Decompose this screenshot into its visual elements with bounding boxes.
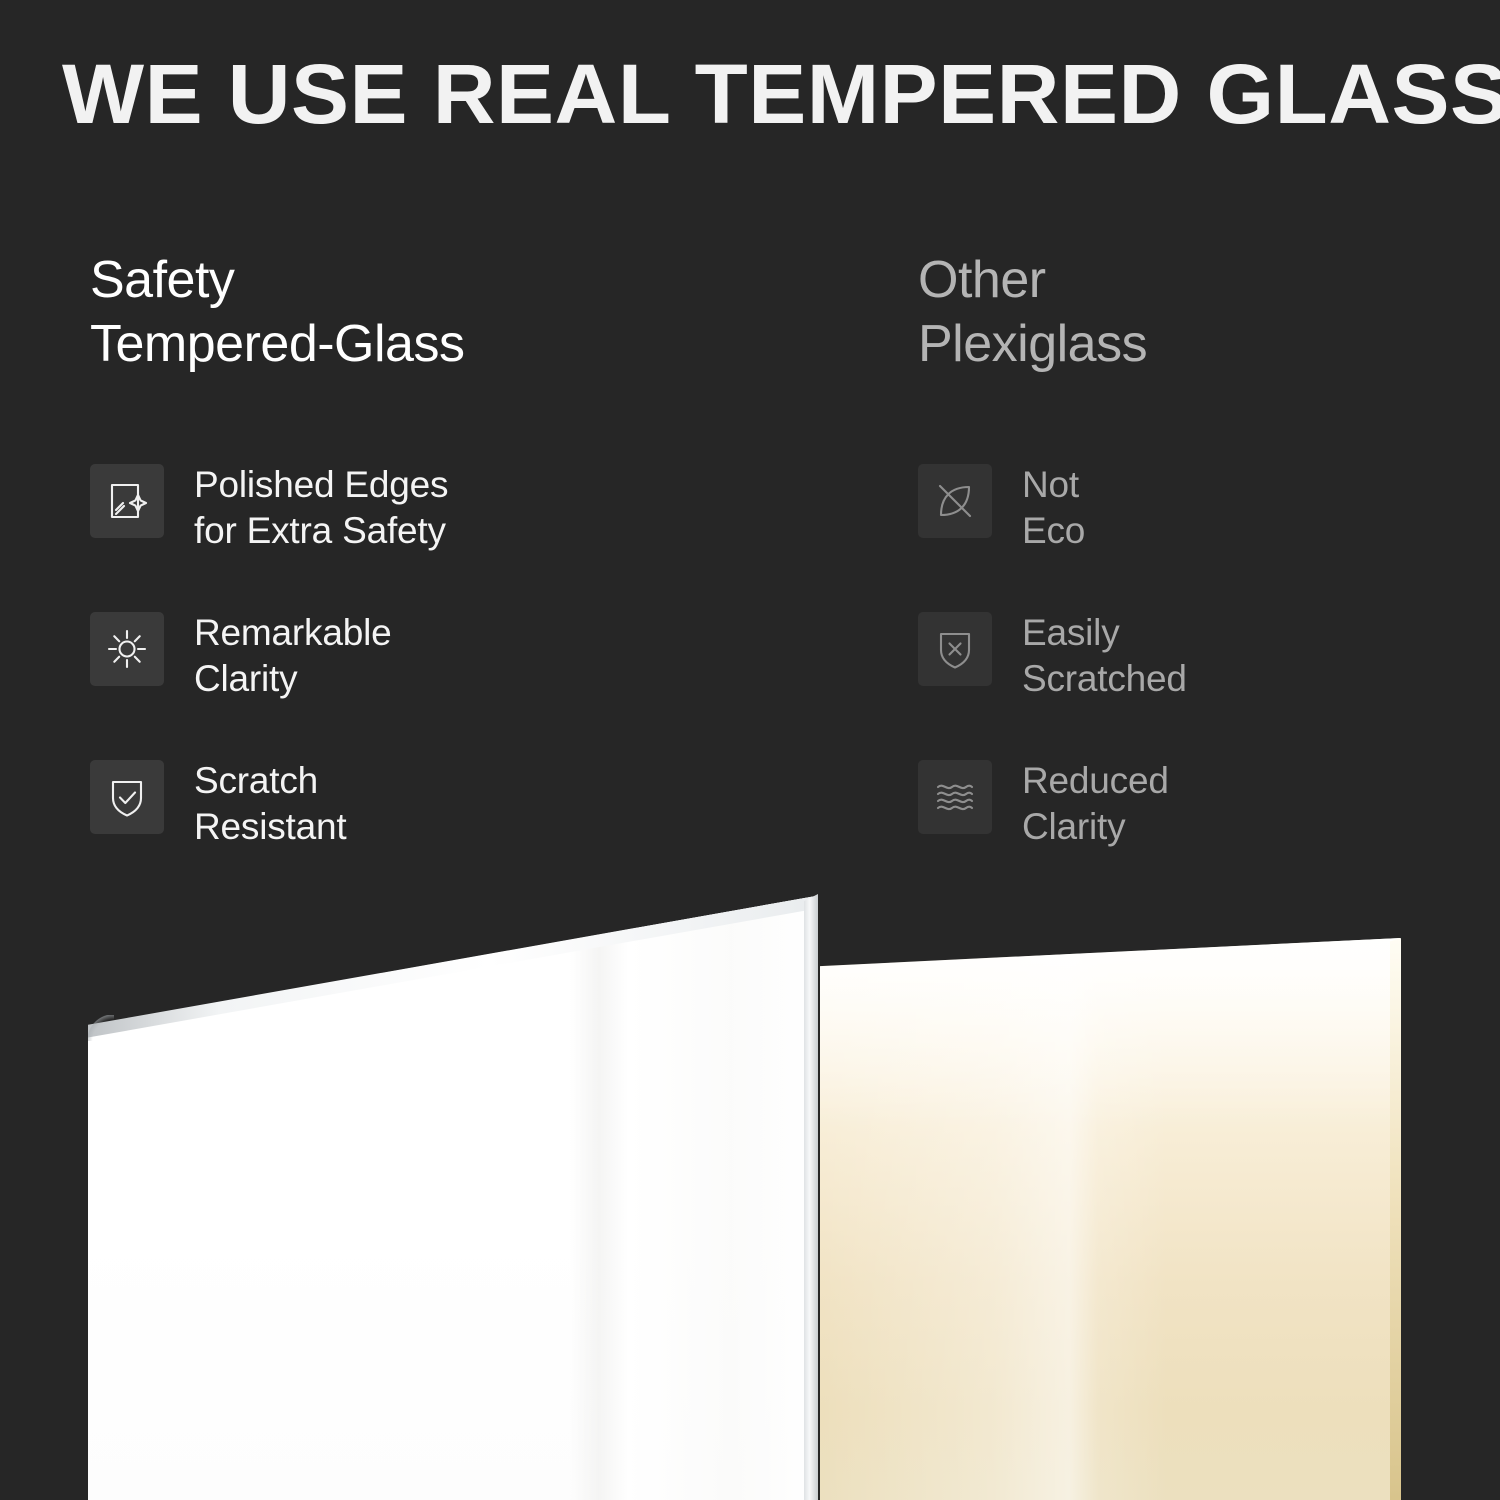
feature-list-left: Polished Edges for Extra Safety Remarkab… xyxy=(90,460,830,904)
feature-label-scratch-resistant: Scratch Resistant xyxy=(194,756,346,850)
column-other-plexiglass: Other Plexiglass Not Eco xyxy=(918,248,1478,376)
feature-label-remarkable-clarity: Remarkable Clarity xyxy=(194,608,391,702)
tempered-glass-panel-right-edge xyxy=(804,894,818,1500)
wavy-lines-icon xyxy=(918,760,992,834)
feature-label-reduced-clarity: Reduced Clarity xyxy=(1022,756,1169,850)
page-title: WE USE REAL TEMPERED GLASS xyxy=(62,44,1500,144)
shield-x-icon xyxy=(918,612,992,686)
feature-label-easily-scratched: Easily Scratched xyxy=(1022,608,1187,702)
plexiglass-panel-right-edge xyxy=(1390,938,1401,1500)
feature-row-remarkable-clarity: Remarkable Clarity xyxy=(90,608,830,756)
sun-brightness-icon xyxy=(90,612,164,686)
tempered-glass-panel-reflection xyxy=(88,882,818,1500)
feature-list-right: Not Eco Easily Scratched xyxy=(918,460,1478,904)
polished-glass-sparkle-icon xyxy=(90,464,164,538)
shield-check-icon xyxy=(90,760,164,834)
feature-label-polished-edges: Polished Edges for Extra Safety xyxy=(194,460,448,554)
column-safety-tempered-glass: Safety Tempered-Glass Polished Edges for… xyxy=(90,248,830,376)
column-heading-left: Safety Tempered-Glass xyxy=(90,248,830,376)
comparison-infographic: WE USE REAL TEMPERED GLASS Safety Temper… xyxy=(0,0,1500,1500)
plexiglass-panel-top-glow xyxy=(820,938,1400,1128)
feature-row-easily-scratched: Easily Scratched xyxy=(918,608,1478,756)
column-heading-right: Other Plexiglass xyxy=(918,248,1478,376)
feature-label-not-eco: Not Eco xyxy=(1022,460,1085,554)
product-comparison-photo xyxy=(0,860,1500,1500)
feature-row-polished-edges: Polished Edges for Extra Safety xyxy=(90,460,830,608)
feature-row-not-eco: Not Eco xyxy=(918,460,1478,608)
leaf-slash-icon xyxy=(918,464,992,538)
tempered-glass-panel-rounded-corner xyxy=(88,1015,114,1041)
